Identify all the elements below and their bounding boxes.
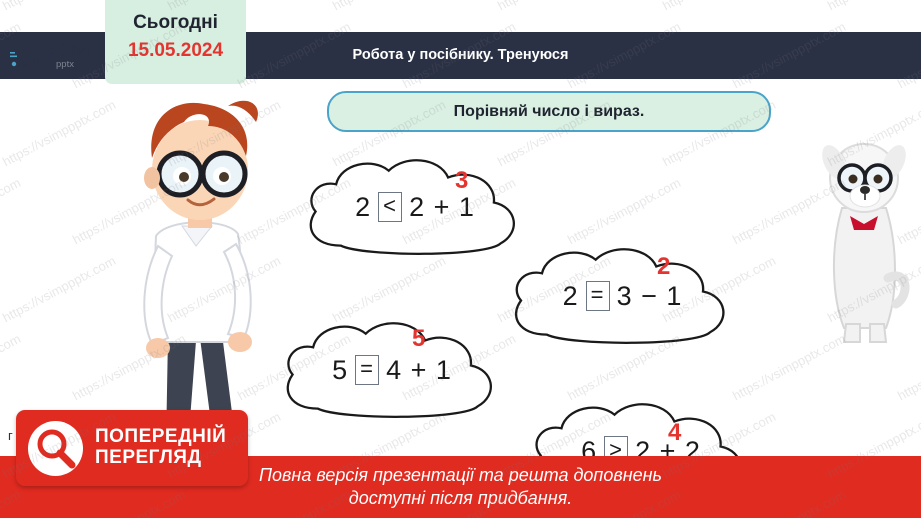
cloud-left-number: 2 [563,281,579,312]
date-value: 15.05.2024 [105,40,246,62]
logo[interactable]: BCIM pptx [10,32,120,79]
slide-root: Робота у посібнику. Тренуюся BCIM pptx С… [0,0,921,518]
watermark-text: https://vsimppptx.com [330,0,448,13]
logo-text: BCIM pptx [46,41,90,70]
task-banner: Порівняй число і вираз. [327,91,771,132]
dog-character-illustration [812,128,916,348]
preview-badge: ПОПЕРЕДНІЙ ПЕРЕГЛЯД [16,410,248,486]
watermark-text: https://vsimppptx.com [0,175,23,247]
cloud-answer-number: 3 [455,167,468,195]
cloud-right-expression: 3 − 1 [617,281,683,312]
cloud-expression: 2=3 − 1 [500,237,745,355]
comparison-operator-box[interactable]: = [355,355,379,385]
logo-name: BCIM [46,41,90,58]
expression-cloud: 2<2 + 1 [295,148,535,266]
magnifier-icon [28,421,83,476]
comparison-operator-box[interactable]: = [586,281,610,311]
bottom-ribbon-line1: Повна версія презентації та решта доповн… [259,464,662,487]
watermark-text: https://vsimppptx.com [0,0,118,13]
cloud-answer-number: 4 [668,419,681,447]
task-banner-text: Порівняй число і вираз. [454,103,645,121]
cloud-right-expression: 2 + 1 [409,192,475,223]
cloud-answer-number: 5 [412,325,425,353]
watermark-text: https://vsimppptx.com [0,331,23,403]
date-badge: Сьогодні 15.05.2024 [105,0,246,84]
cloud-left-number: 5 [332,355,348,386]
logo-sub: pptx [56,60,90,70]
watermark-text: https://vsimppptx.com [825,0,921,13]
comparison-operator-box[interactable]: < [378,192,402,222]
watermark-text: https://vsimppptx.com [495,0,613,13]
expression-cloud: 2=3 − 1 [500,237,745,355]
cloud-answer-number: 2 [657,253,670,281]
graduation-cap-icon [10,44,40,68]
cloud-expression: 5=4 + 1 [272,311,512,429]
cloud-left-number: 2 [355,192,371,223]
bottom-ribbon-line2: доступні після придбання. [349,487,572,510]
date-today-label: Сьогодні [105,12,246,34]
preview-badge-text: ПОПЕРЕДНІЙ ПЕРЕГЛЯД [95,427,226,469]
expression-cloud: 5=4 + 1 [272,311,512,429]
hidden-left-text: г [8,428,13,443]
cloud-expression: 2<2 + 1 [295,148,535,266]
watermark-text: https://vsimppptx.com [660,0,778,13]
preview-badge-line2: ПЕРЕГЛЯД [95,448,226,469]
cloud-right-expression: 4 + 1 [386,355,452,386]
preview-badge-line1: ПОПЕРЕДНІЙ [95,427,226,448]
